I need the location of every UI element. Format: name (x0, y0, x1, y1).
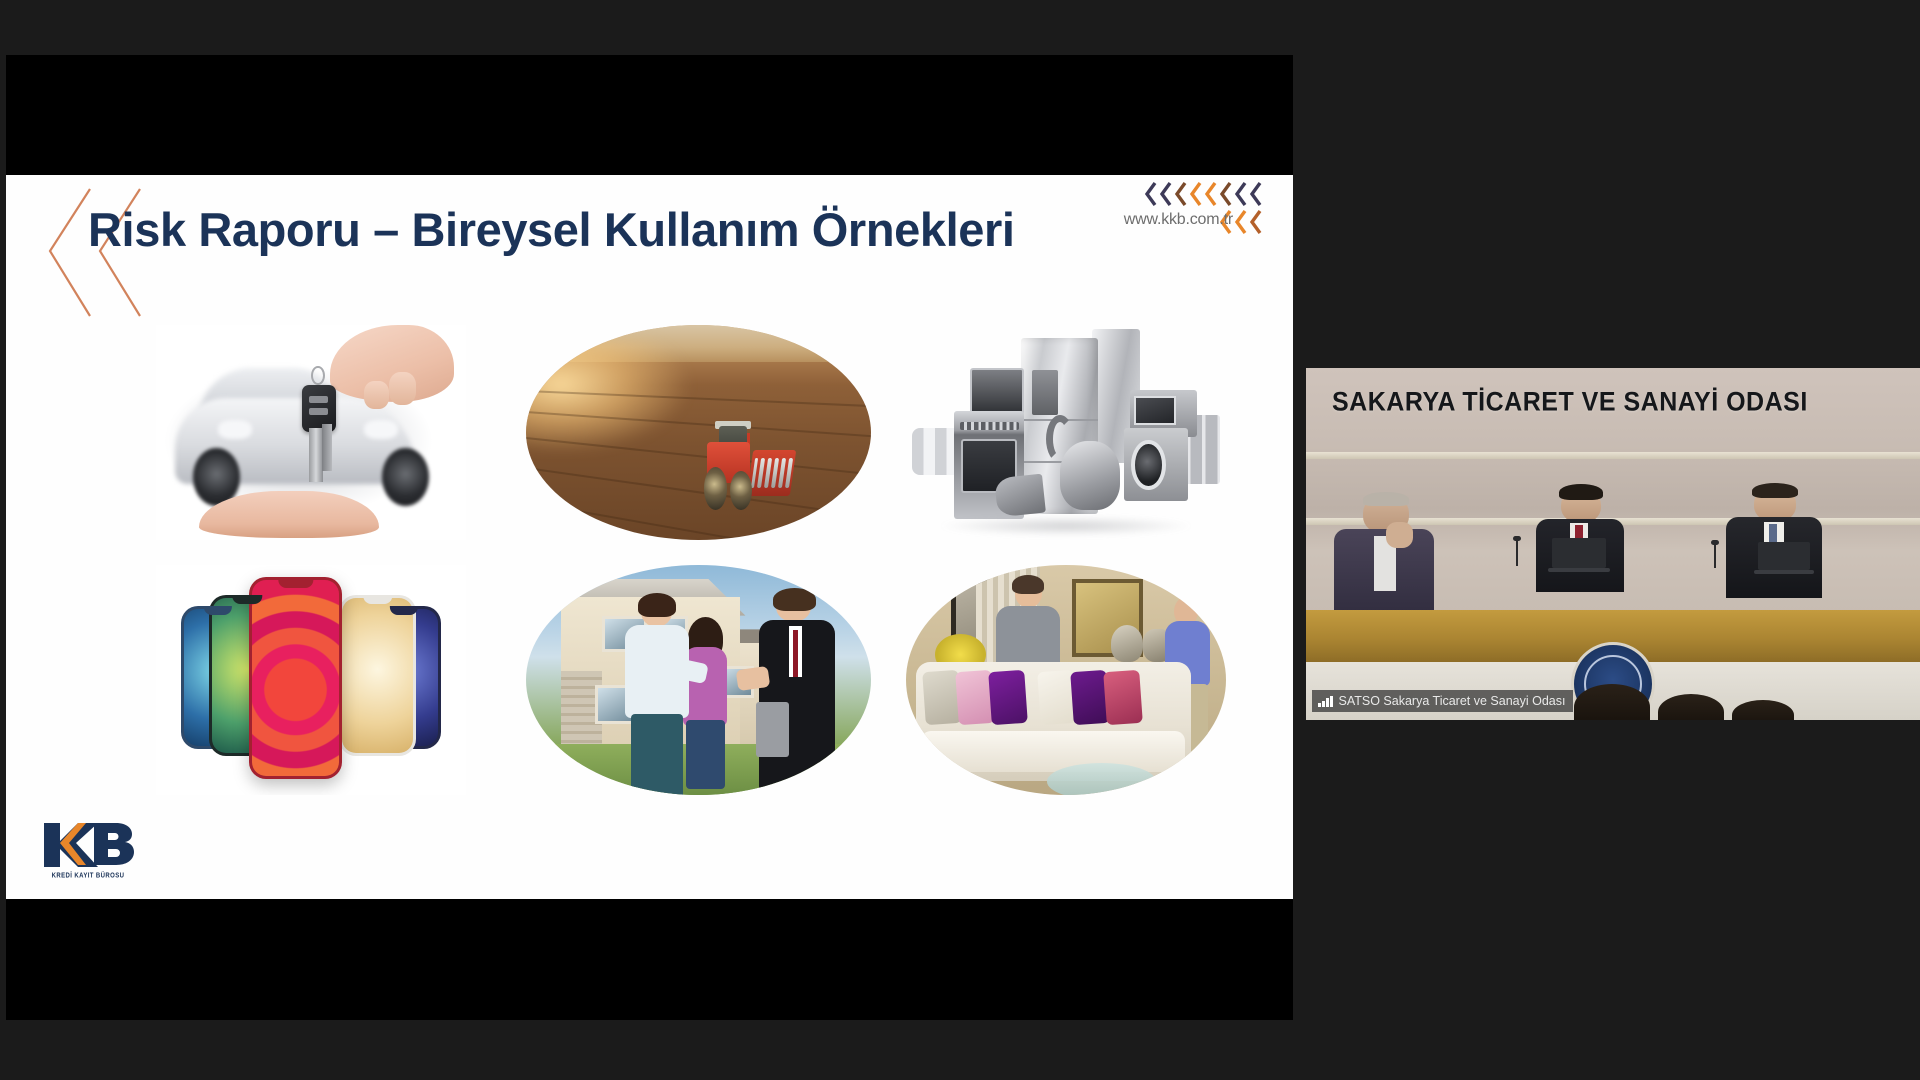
participant-name-text: SATSO Sakarya Ticaret ve Sanayi Odası (1339, 694, 1566, 708)
microphone-center (1516, 540, 1518, 566)
participant-name-label: SATSO Sakarya Ticaret ve Sanayi Odası (1312, 690, 1573, 712)
microphone-right (1714, 544, 1716, 568)
slide-image-living-room (906, 565, 1226, 795)
slide-image-home-appliances (906, 325, 1226, 540)
slide-image-smartphones (156, 565, 466, 795)
video-stream: SAKARYA TİCARET VE SANAYİ ODASI (1306, 368, 1920, 720)
slide-image-house-handshake (526, 565, 871, 795)
presentation-slide[interactable]: Risk Raporu – Bireysel Kullanım Örnekler… (6, 175, 1293, 899)
meeting-stage: Risk Raporu – Bireysel Kullanım Örnekler… (0, 0, 1920, 1080)
slide-image-car-keys (156, 325, 466, 540)
slide-url: www.kkb.com.tr (1124, 211, 1233, 229)
shared-screen-region[interactable]: Risk Raporu – Bireysel Kullanım Örnekler… (6, 55, 1293, 1020)
attendee-left (1332, 494, 1436, 612)
laptop-right (1758, 542, 1810, 570)
slide-title: Risk Raporu – Bireysel Kullanım Örnekler… (88, 202, 1015, 257)
laptop-center (1552, 538, 1606, 568)
wall-sign-text: SAKARYA TİCARET VE SANAYİ ODASI (1332, 387, 1808, 418)
slide-image-grid (6, 325, 1293, 845)
kkb-logo-subtitle: KREDİ KAYIT BÜROSU (38, 872, 138, 880)
corner-chevrons-top (1144, 181, 1263, 207)
participant-video-tile[interactable]: SAKARYA TİCARET VE SANAYİ ODASI (1306, 368, 1920, 720)
slide-image-tractor-field (526, 325, 871, 540)
kkb-logo: KREDİ KAYIT BÜROSU (38, 819, 138, 883)
signal-bars-icon (1318, 696, 1333, 707)
